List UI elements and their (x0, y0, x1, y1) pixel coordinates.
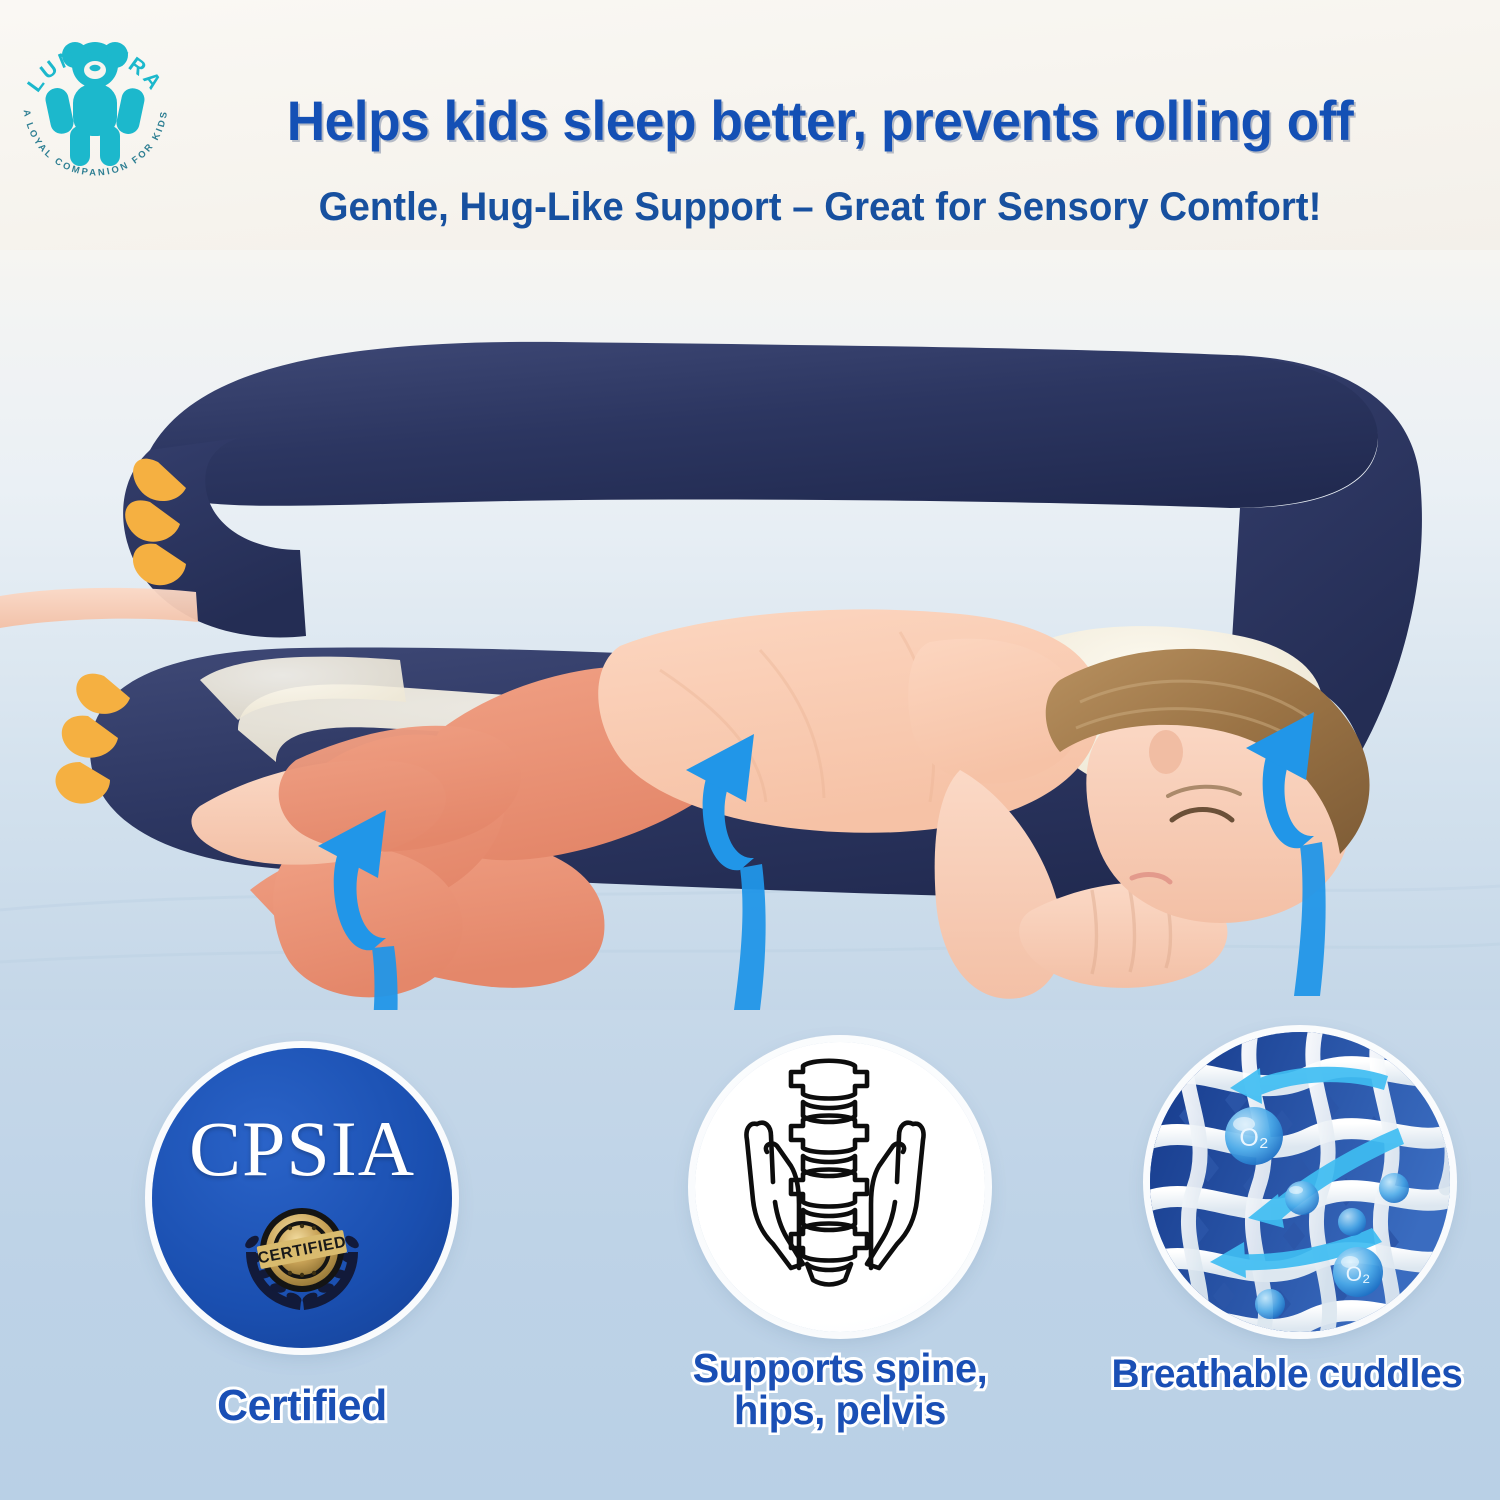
cpsia-mark-text: CPSIA (152, 1104, 452, 1194)
page-subheadline: Gentle, Hug-Like Support – Great for Sen… (210, 185, 1429, 230)
breathable-knit-fabric-icon: O₂ O₂ (1150, 1032, 1450, 1332)
badge-breathable[interactable]: O₂ O₂ (1120, 1032, 1480, 1395)
brand-logo: LUNAMIRA A LOYAL COMPANION FOR KIDS (8, 8, 183, 188)
pillow-top-bolster (146, 342, 1379, 508)
hands-supporting-spine-icon (695, 1042, 985, 1332)
oxygen-bubble: O₂ (1225, 1107, 1283, 1165)
page-headline: Helps kids sleep better, prevents rollin… (217, 88, 1424, 153)
oxygen-bubble-label: O₂ (1239, 1124, 1268, 1152)
feature-badges-row: CPSIA (0, 1010, 1500, 1500)
badge-spine-caption-line2: hips, pelvis (651, 1390, 1029, 1432)
cpsia-certified-badge-icon: CPSIA (152, 1048, 452, 1348)
badge-spine-caption-line1: Supports spine, (651, 1348, 1029, 1390)
badge-cpsia-certified[interactable]: CPSIA (112, 1048, 492, 1429)
hero-product-photo (0, 250, 1500, 1040)
badge-breathable-caption: Breathable cuddles (1100, 1354, 1474, 1395)
badge-spine-support[interactable]: Supports spine, hips, pelvis (645, 1042, 1035, 1432)
svg-text:O₂: O₂ (1346, 1263, 1371, 1286)
badge-cpsia-caption: Certified (118, 1384, 487, 1429)
certified-seal-icon: CERTIFIED (238, 1198, 366, 1316)
